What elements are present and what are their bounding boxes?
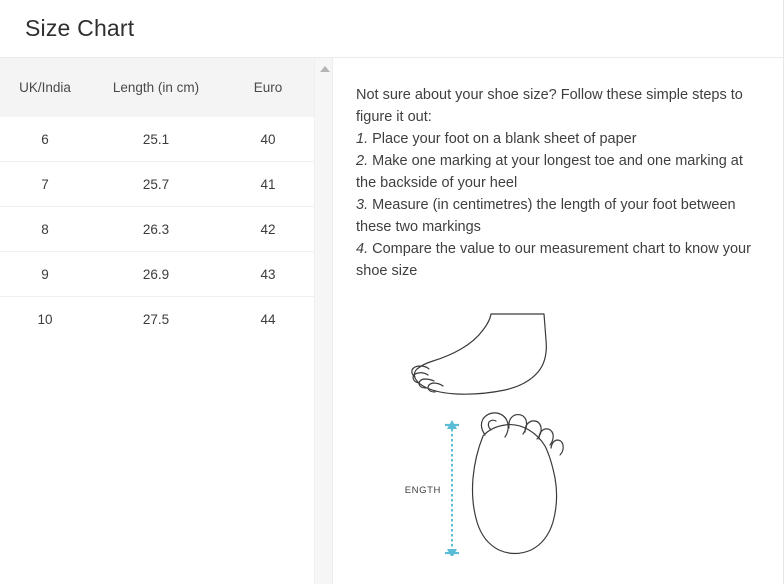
toe-little-sole [551,440,563,455]
size-table-body: 6 25.1 40 7 25.7 41 8 26.3 42 [0,117,314,341]
list-item: 3. Measure (in centimetres) the length o… [356,194,753,238]
table-row[interactable]: 7 25.7 41 [0,162,314,207]
step-text: Compare the value to our measurement cha… [356,241,751,279]
table-row[interactable]: 9 26.9 43 [0,252,314,297]
foot-measurement-illustration: LENGTH [356,306,753,556]
foot-diagram-svg: LENGTH [405,306,705,556]
foot-sole-view [472,413,563,554]
table-row[interactable]: 6 25.1 40 [0,117,314,162]
foot-sole-outline [472,425,556,554]
size-table: UK/India Length (in cm) Euro 6 25.1 40 7 [0,58,314,341]
cell-euro: 40 [222,117,314,162]
instructions-panel: Not sure about your shoe size? Follow th… [333,58,783,584]
column-header-uk-india: UK/India [0,58,90,117]
cell-uk-india: 8 [0,207,90,252]
step-number: 4. [356,241,368,257]
cell-length: 27.5 [90,297,222,342]
cell-euro: 42 [222,207,314,252]
list-item: 4. Compare the value to our measurement … [356,238,753,282]
cell-uk-india: 7 [0,162,90,207]
size-chart-modal: Size Chart UK/India Length (in cm) Euro [0,0,784,584]
cell-length: 25.7 [90,162,222,207]
cell-euro: 44 [222,297,314,342]
modal-header: Size Chart [0,0,783,58]
list-item: 1. Place your foot on a blank sheet of p… [356,128,753,150]
cell-euro: 43 [222,252,314,297]
length-label: LENGTH [405,485,441,496]
table-header-row: UK/India Length (in cm) Euro [0,58,314,117]
length-measure-arrow: LENGTH [405,420,459,556]
table-row[interactable]: 10 27.5 44 [0,297,314,342]
chevron-up-icon[interactable] [320,66,330,72]
column-header-length: Length (in cm) [90,58,222,117]
step-text: Measure (in centimetres) the length of y… [356,197,736,235]
step-text: Place your foot on a blank sheet of pape… [372,131,636,147]
list-item: 2. Make one marking at your longest toe … [356,150,753,194]
size-table-scroll-area[interactable]: UK/India Length (in cm) Euro 6 25.1 40 7 [0,58,314,584]
foot-side-view [411,314,546,394]
page-title: Size Chart [0,17,134,40]
cell-length: 25.1 [90,117,222,162]
steps-list: 1. Place your foot on a blank sheet of p… [356,128,753,282]
modal-body: UK/India Length (in cm) Euro 6 25.1 40 7 [0,58,783,584]
intro-text: Not sure about your shoe size? Follow th… [356,84,753,128]
cell-uk-india: 9 [0,252,90,297]
size-table-panel: UK/India Length (in cm) Euro 6 25.1 40 7 [0,58,333,584]
step-number: 3. [356,197,368,213]
cell-uk-india: 10 [0,297,90,342]
size-table-head: UK/India Length (in cm) Euro [0,58,314,117]
step-text: Make one marking at your longest toe and… [356,153,743,191]
toe-fourth-sole [539,429,553,445]
step-number: 2. [356,153,368,169]
cell-uk-india: 6 [0,117,90,162]
vertical-scrollbar[interactable] [314,58,333,584]
cell-euro: 41 [222,162,314,207]
table-row[interactable]: 8 26.3 42 [0,207,314,252]
cell-length: 26.3 [90,207,222,252]
column-header-euro: Euro [222,58,314,117]
foot-side-outline [414,314,546,394]
cell-length: 26.9 [90,252,222,297]
step-number: 1. [356,131,368,147]
